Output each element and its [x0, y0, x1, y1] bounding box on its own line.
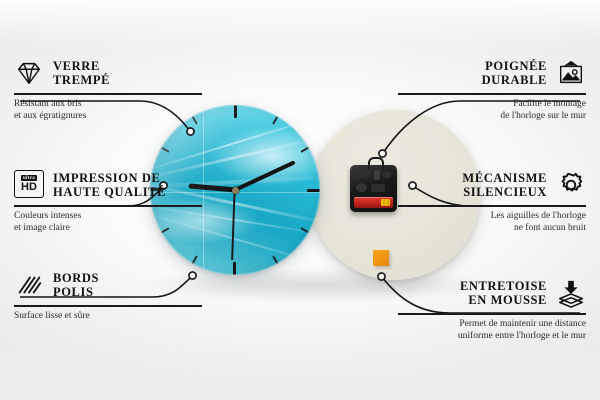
feature-title-line2: SILENCIEUX [463, 185, 547, 199]
mechanism-detail [383, 172, 391, 178]
polished-edges-icon [14, 270, 44, 300]
diamond-icon [14, 58, 44, 88]
feature-desc-line1: Facilite le montage [513, 99, 586, 109]
feature-title-line1: VERRE [53, 59, 100, 73]
foam-spacer-pad [373, 250, 389, 266]
feature-bords-polis: BORDS POLIS Surface lisse et sûre [14, 270, 202, 323]
feature-desc-line1: Couleurs intenses [14, 211, 81, 221]
feature-entretoise-en-mousse: ENTRETOISE EN MOUSSE Permet de maintenir… [398, 278, 586, 342]
divider [14, 93, 202, 95]
aa-battery [354, 197, 393, 208]
feature-desc-line2: de l'horloge sur le mur [500, 111, 586, 121]
mechanism-detail [356, 183, 367, 192]
feature-desc-line2: et image claire [14, 223, 70, 233]
divider [398, 313, 586, 315]
mechanism-detail [371, 184, 385, 192]
mechanism-detail [355, 171, 370, 178]
feature-desc-line2: ne font aucun bruit [514, 223, 586, 233]
divider [14, 305, 202, 307]
feature-verre-trempe: VERRE TREMPÉ Résistant aux bris et aux é… [14, 58, 202, 122]
feature-mecanisme-silencieux: MÉCANISME SILENCIEUX Les aiguilles de l'… [398, 170, 586, 234]
feature-desc-line2: et aux égratignures [14, 111, 86, 121]
feature-desc-line1: Les aiguilles de l'horloge [491, 211, 586, 221]
infographic-canvas: VERRE TREMPÉ Résistant aux bris et aux é… [0, 0, 600, 400]
feature-title-line2: EN MOUSSE [468, 293, 547, 307]
divider [14, 205, 202, 207]
feature-desc-line2: uniforme entre l'horloge et le mur [458, 331, 586, 341]
feature-impression-haute-qualite: ultra HD IMPRESSION DE HAUTE QUALITÉ Cou… [14, 170, 202, 234]
feature-desc-line1: Surface lisse et sûre [14, 311, 90, 321]
feature-desc-line1: Résistant aux bris [14, 99, 82, 109]
feature-title-line1: BORDS [53, 271, 99, 285]
ultra-hd-icon: ultra HD [14, 170, 44, 200]
feature-title-line2: HAUTE QUALITÉ [53, 185, 166, 199]
feature-poignee-durable: POIGNÉE DURABLE Facilite le montage de l… [398, 58, 586, 122]
feature-title-line1: IMPRESSION DE [53, 171, 160, 185]
feature-title-line2: TREMPÉ [53, 73, 110, 87]
badge-hd-label: HD [21, 182, 37, 193]
feature-desc-line1: Permet de maintenir une distance [459, 319, 586, 329]
quartz-mechanism [350, 165, 397, 212]
gear-icon [556, 170, 586, 200]
feature-title-line1: POIGNÉE [485, 59, 547, 73]
feature-title-line1: ENTRETOISE [460, 279, 547, 293]
picture-hanger-icon [556, 58, 586, 88]
feature-title-line2: DURABLE [482, 73, 547, 87]
feature-title-line2: POLIS [53, 285, 94, 299]
divider [398, 93, 586, 95]
hanging-hook-icon [368, 157, 384, 169]
divider [398, 205, 586, 207]
mechanism-detail [374, 170, 380, 180]
foam-spacer-icon [556, 278, 586, 308]
feature-title-line1: MÉCANISME [462, 171, 547, 185]
